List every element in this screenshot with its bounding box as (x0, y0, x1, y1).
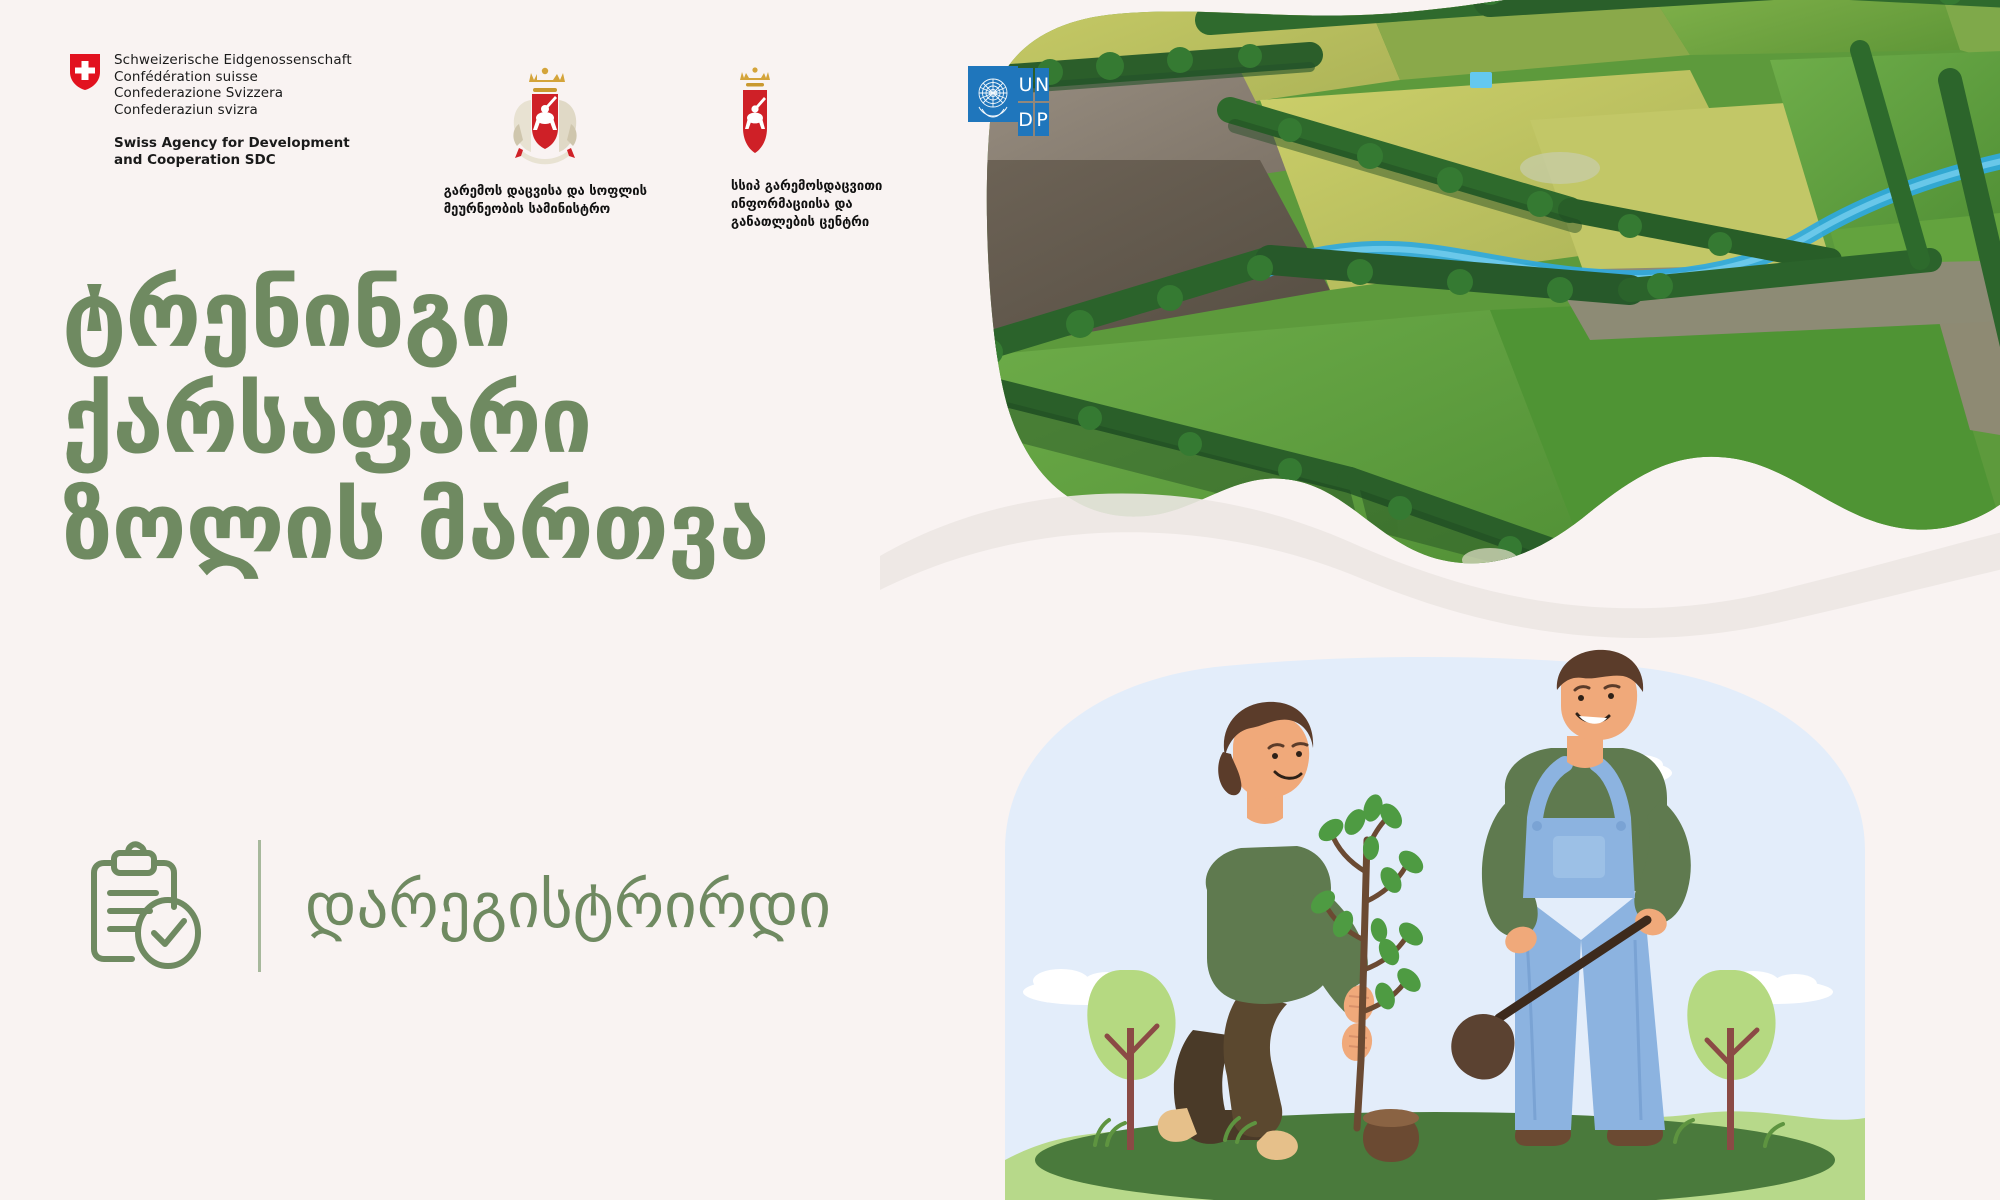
partner-logo-bar: Schweizerische Eidgenossenschaft Confédé… (70, 52, 1018, 232)
clipboard-check-icon (80, 841, 220, 971)
poster-canvas: Schweizerische Eidgenossenschaft Confédé… (0, 0, 2000, 1200)
undp-letter-d: D (1018, 103, 1033, 136)
swiss-line-de: Schweizerische Eidgenossenschaft (114, 52, 352, 69)
eiec-crest-icon (733, 66, 777, 166)
undp-letter-p: P (1035, 103, 1049, 136)
georgia-ministry-crest-icon (505, 66, 585, 171)
undp-letter-n: N (1035, 68, 1049, 101)
ministry-of-environment-logo: გარემოს დაცვისა და სოფლის მეურნეობის სამ… (444, 66, 647, 219)
swiss-confederation-logo: Schweizerische Eidgenossenschaft Confédé… (70, 52, 352, 168)
swiss-agency-line-2: and Cooperation SDC (114, 152, 352, 169)
register-cta[interactable]: დარეგისტრირდი (80, 840, 831, 972)
ministry-label: გარემოს დაცვისა და სოფლის მეურნეობის სამ… (444, 183, 647, 219)
title-line-1: ტრენინგი (62, 262, 982, 368)
swiss-line-rm: Confederaziun svizra (114, 102, 352, 119)
page-title: ტრენინგი ქარსაფარი ზოლის მართვა (62, 262, 982, 580)
title-line-2: ქარსაფარი (62, 368, 982, 474)
center-label: სსიპ გარემოსდაცვითი ინფორმაციისა და განა… (731, 178, 882, 232)
swiss-shield-icon (70, 54, 100, 90)
undp-logo: U N D P (968, 66, 1018, 136)
swiss-line-it: Confederazione Svizzera (114, 85, 352, 102)
un-emblem-icon (968, 66, 1018, 122)
environmental-information-center-logo: სსიპ გარემოსდაცვითი ინფორმაციისა და განა… (731, 66, 882, 232)
cta-divider (258, 840, 261, 972)
register-label[interactable]: დარეგისტრირდი (305, 871, 831, 941)
swiss-line-fr: Confédération suisse (114, 69, 352, 86)
undp-letters: U N D P (1018, 68, 1049, 136)
swiss-agency-line-1: Swiss Agency for Development (114, 135, 352, 152)
title-line-3: ზოლის მართვა (62, 474, 982, 580)
tree-planting-illustration (975, 640, 1895, 1200)
undp-letter-u: U (1018, 68, 1033, 101)
